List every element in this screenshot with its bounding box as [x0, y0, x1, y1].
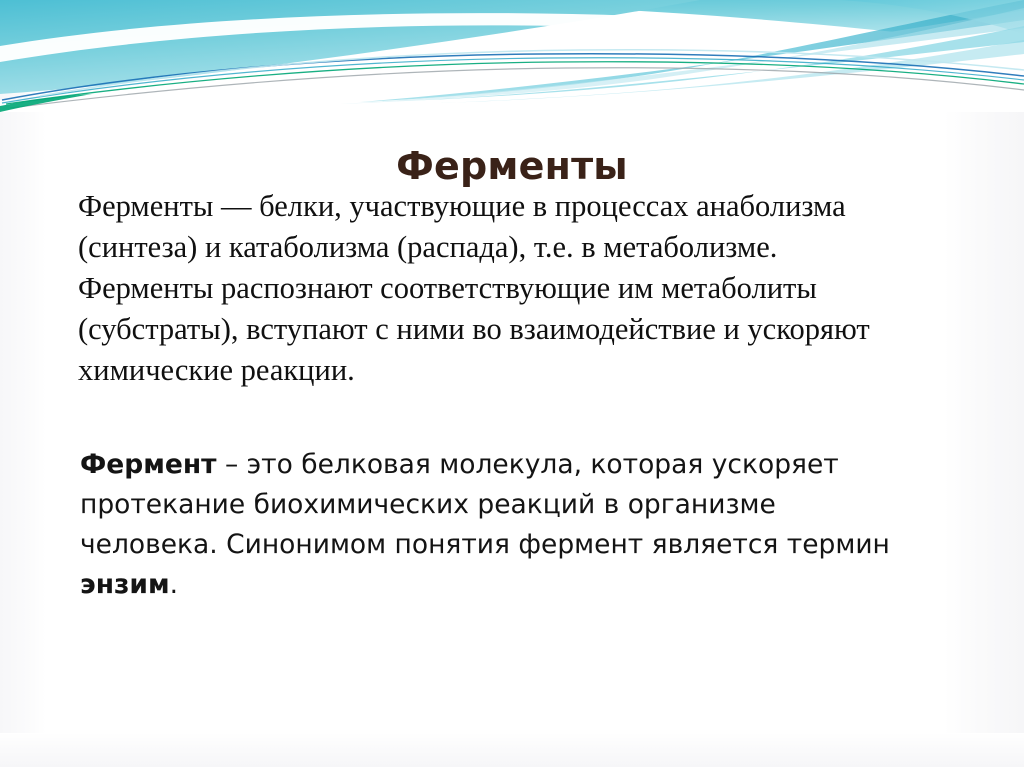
slide-title: Ферменты	[0, 143, 1024, 189]
definition-paragraph-serif: Ферменты — белки, участвующие в процесса…	[0, 186, 880, 391]
page-margin-bottom	[0, 733, 1024, 767]
term-enzim-bold: энзим	[80, 569, 170, 600]
term-fermеnt-bold: Фермент	[80, 449, 217, 480]
slide-body: Ферменты — белки, участвующие в процесса…	[0, 186, 1024, 605]
decorative-wave-banner	[0, 0, 1024, 112]
definition-paragraph-sans: Фермент – это белковая молекула, которая…	[0, 391, 900, 605]
presentation-slide: Ферменты Ферменты — белки, участвующие в…	[0, 0, 1024, 767]
definition-trailing-period: .	[170, 569, 178, 600]
